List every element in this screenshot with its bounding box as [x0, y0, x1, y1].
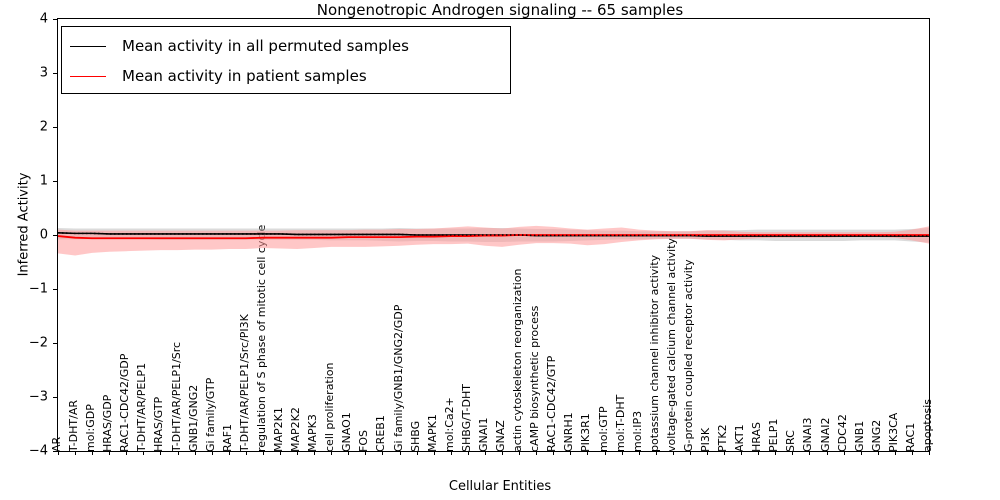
legend-entry-patient: Mean activity in patient samples [70, 63, 367, 89]
chart-title: Nongenotropic Androgen signaling -- 65 s… [0, 1, 1000, 19]
legend-label-permuted: Mean activity in all permuted samples [122, 37, 409, 55]
y-tick-label: −3 [29, 390, 48, 405]
y-tick-label: 0 [40, 228, 48, 243]
legend-label-patient: Mean activity in patient samples [122, 67, 367, 85]
legend-swatch-patient [70, 76, 106, 77]
chart-legend: Mean activity in all permuted samples Me… [61, 26, 511, 94]
y-tick-label: 3 [40, 66, 48, 81]
legend-entry-permuted: Mean activity in all permuted samples [70, 33, 409, 59]
y-tick-label: 4 [40, 12, 48, 27]
y-axis-ticks: −4−3−2−101234 [0, 0, 57, 500]
y-tick-label: −2 [29, 336, 48, 351]
chart-figure: Nongenotropic Androgen signaling -- 65 s… [0, 0, 1000, 500]
y-tick-label: 1 [40, 174, 48, 189]
y-tick-label: −1 [29, 282, 48, 297]
y-tick-label: 2 [40, 120, 48, 135]
legend-swatch-permuted [70, 46, 106, 47]
x-axis-label: Cellular Entities [0, 479, 1000, 494]
y-tick-label: −4 [29, 444, 48, 459]
